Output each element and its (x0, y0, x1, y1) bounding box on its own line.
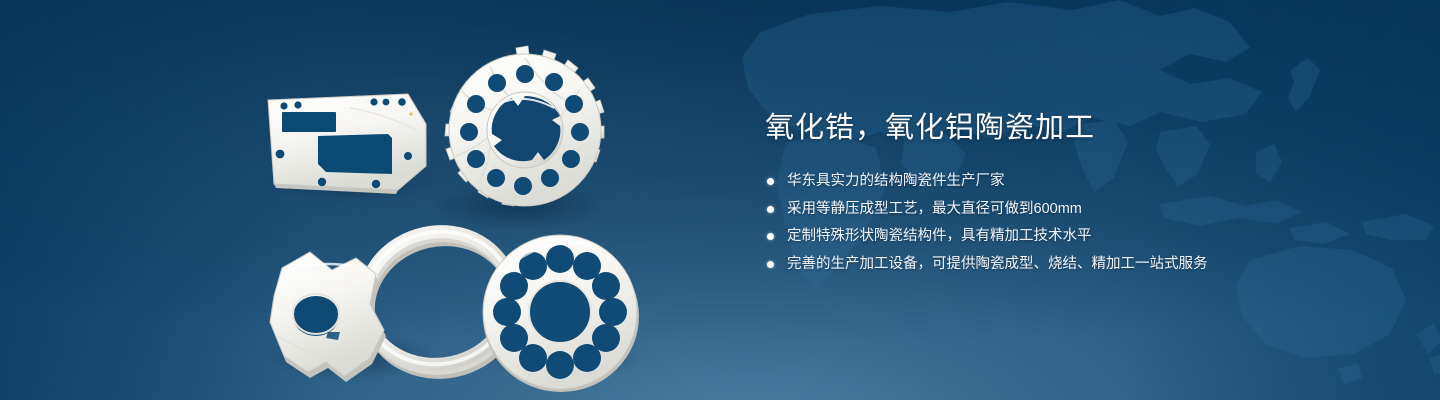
banner-copy: 氧化锆，氧化铝陶瓷加工 华东具实力的结构陶瓷件生产厂家 采用等静压成型工艺，最大… (765, 108, 1385, 280)
feature-item-label: 采用等静压成型工艺，最大直径可做到600mm (787, 201, 1082, 217)
feature-item: 华东具实力的结构陶瓷件生产厂家 (765, 170, 1385, 192)
feature-item: 采用等静压成型工艺，最大直径可做到600mm (765, 198, 1385, 220)
feature-item: 定制特殊形状陶瓷结构件，具有精加工技术水平 (765, 225, 1385, 247)
feature-item-label: 定制特殊形状陶瓷结构件，具有精加工技术水平 (787, 228, 1092, 244)
banner-headline: 氧化锆，氧化铝陶瓷加工 (765, 108, 1385, 148)
ceramic-impeller-rotor (445, 46, 604, 206)
ceramic-hole-disc (483, 235, 639, 392)
bullet-dot-icon (767, 206, 774, 213)
hero-banner: 氧化锆，氧化铝陶瓷加工 华东具实力的结构陶瓷件生产厂家 采用等静压成型工艺，最大… (0, 0, 1440, 400)
bullet-dot-icon (767, 261, 774, 268)
ceramic-products-photo (230, 38, 730, 383)
bullet-dot-icon (767, 233, 774, 240)
feature-item: 完善的生产加工设备，可提供陶瓷成型、烧结、精加工一站式服务 (765, 253, 1385, 275)
feature-list: 华东具实力的结构陶瓷件生产厂家 采用等静压成型工艺，最大直径可做到600mm 定… (765, 170, 1385, 275)
ceramic-machined-plate (268, 94, 426, 194)
ceramic-cross-plate (270, 252, 386, 382)
feature-item-label: 华东具实力的结构陶瓷件生产厂家 (787, 173, 1005, 189)
feature-item-label: 完善的生产加工设备，可提供陶瓷成型、烧结、精加工一站式服务 (787, 256, 1208, 272)
bullet-dot-icon (767, 178, 774, 185)
